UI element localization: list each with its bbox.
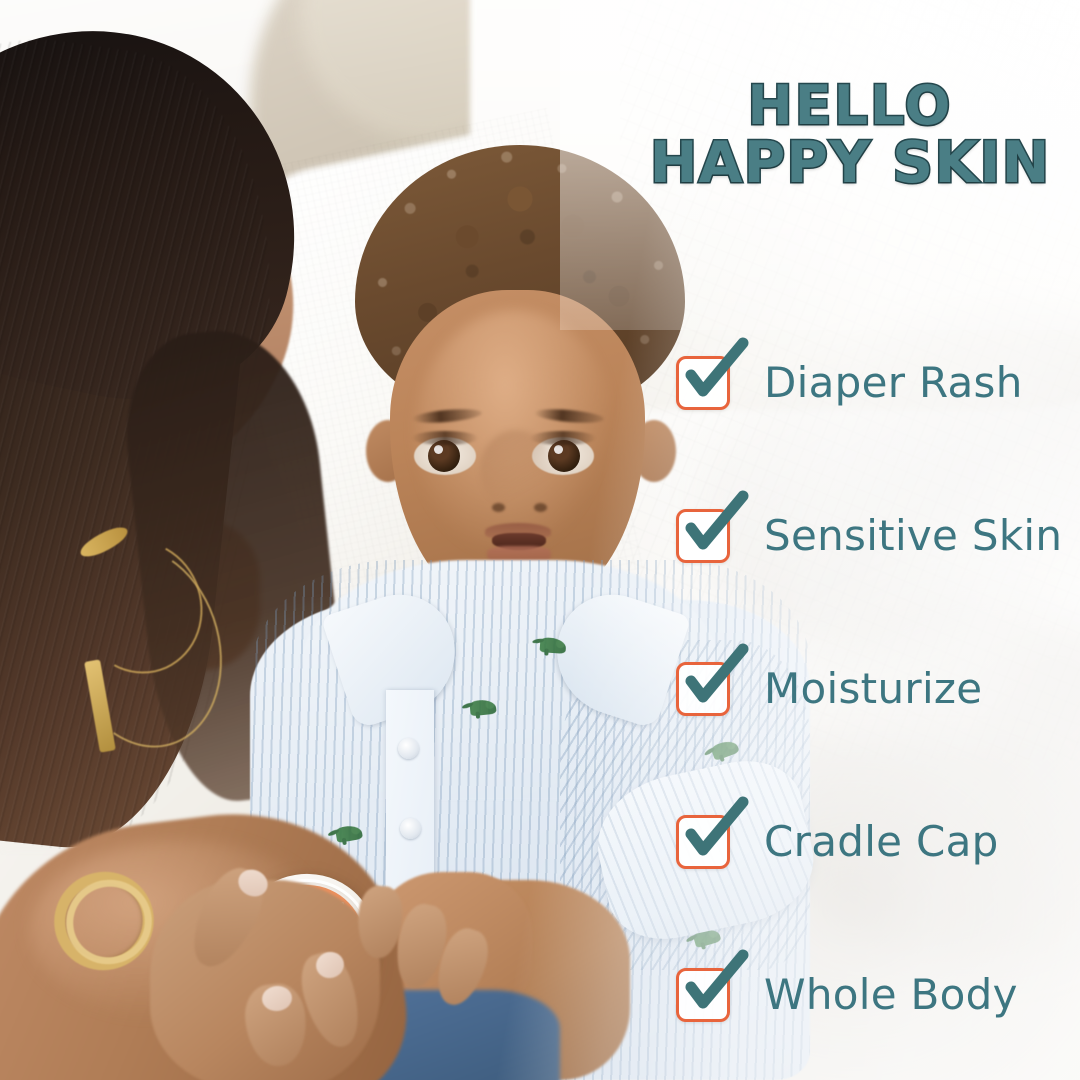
marketing-overlay: HELLO HAPPY SKIN Diaper Rash [0, 0, 1080, 1080]
benefits-checklist: Diaper Rash Sensitive Skin [676, 306, 1080, 1071]
checklist-item-label: Sensitive Skin [764, 511, 1062, 560]
checklist-item-diaper-rash[interactable]: Diaper Rash [676, 306, 1080, 459]
headline-line-2: HAPPY SKIN [620, 134, 1080, 193]
checkmark-icon [677, 945, 749, 1017]
checkmark-icon [677, 333, 749, 405]
checkbox[interactable] [676, 968, 730, 1022]
ad-canvas: EVERYTHING BALM Fresh Scent HELLO HAPPY … [0, 0, 1080, 1080]
checklist-item-label: Diaper Rash [764, 358, 1023, 407]
checkbox[interactable] [676, 815, 730, 869]
checkmark-icon [677, 639, 749, 711]
checkmark-icon [677, 486, 749, 558]
checklist-item-moisturize[interactable]: Moisturize [676, 612, 1080, 765]
checklist-item-cradle-cap[interactable]: Cradle Cap [676, 765, 1080, 918]
checkbox[interactable] [676, 509, 730, 563]
checklist-item-sensitive-skin[interactable]: Sensitive Skin [676, 459, 1080, 612]
checklist-item-label: Whole Body [764, 970, 1018, 1019]
checkbox[interactable] [676, 662, 730, 716]
checkmark-icon [677, 792, 749, 864]
checkbox[interactable] [676, 356, 730, 410]
checklist-item-label: Moisturize [764, 664, 982, 713]
checklist-item-label: Cradle Cap [764, 817, 999, 866]
headline-line-1: HELLO [620, 78, 1080, 134]
headline: HELLO HAPPY SKIN [620, 78, 1080, 193]
checklist-item-whole-body[interactable]: Whole Body [676, 918, 1080, 1071]
